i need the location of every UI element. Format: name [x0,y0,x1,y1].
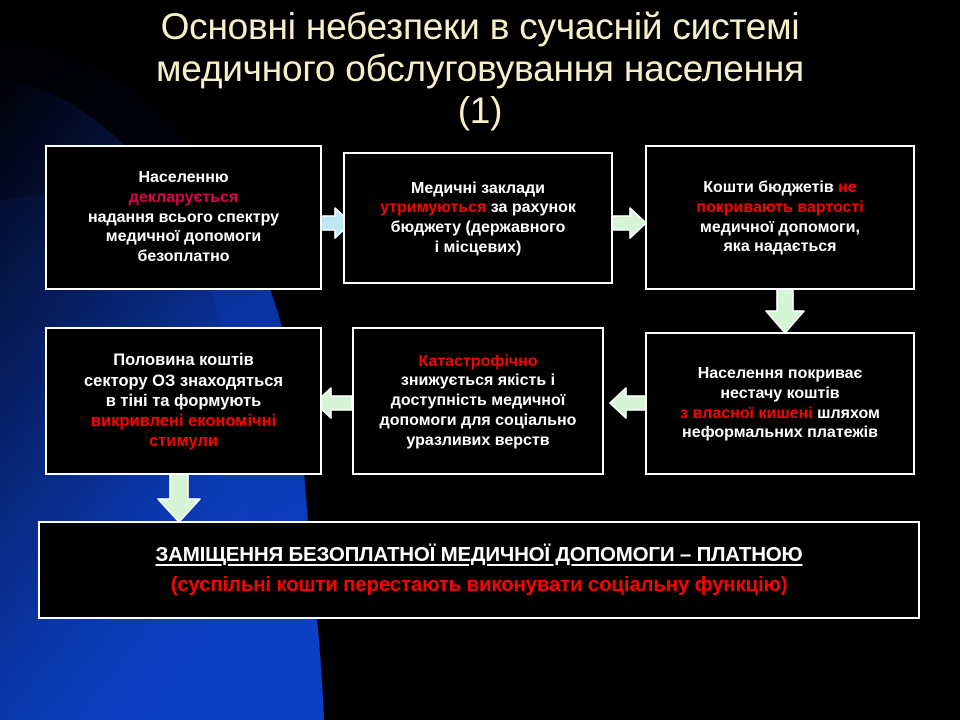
text-run: сектору ОЗ знаходяться [84,372,283,390]
flow-box-text: Медичні закладиутримуються за рахунокбюд… [376,179,580,258]
flow-box-out-of-pocket-payments: Населення покриваєнестачу коштівз власно… [645,332,915,475]
text-run: Медичні заклади [411,180,545,197]
flow-box-text: Половина коштівсектору ОЗ знаходятьсяв т… [80,350,287,451]
text-run: шляхом [813,405,880,422]
text-run: неформальних платежів [682,424,878,441]
text-run: медичної допомоги [106,228,261,245]
arrow-box4-to-banner [155,472,203,524]
text-run: з власної кишені [680,405,813,422]
arrow-box2-to-box3 [608,206,648,240]
text-run: Населення покриває [698,365,863,382]
text-run: уразливих верств [406,432,549,449]
text-run: за рахунок [486,199,576,216]
flow-box-budget-not-covering: Кошти бюджетів непокривають вартостімеди… [645,145,915,290]
flow-box-shadow-economy-incentives: Половина коштівсектору ОЗ знаходятьсяв т… [45,327,322,475]
text-run: і місцевих) [435,239,522,256]
text-run: стимули [149,432,218,450]
arrow-box3-to-box6 [763,285,807,335]
text-run: Кошти бюджетів [703,179,838,196]
text-run: яка надається [723,238,836,255]
conclusion-banner-subline: (суспільні кошти перестають виконувати с… [171,573,788,597]
flow-box-quality-access-decline: Катастрофічнознижується якість ідоступні… [352,327,604,475]
flow-box-text: Населення покриваєнестачу коштівз власно… [676,364,884,443]
text-run: викривлені економічні [91,412,276,430]
arrow-box6-to-box5 [608,386,648,420]
text-run: Населенню [138,169,228,186]
text-run: безоплатно [137,248,229,265]
text-run: нестачу коштів [720,385,839,402]
text-run: допомоги для соціально [380,412,577,429]
text-run: Катастрофічно [418,353,537,370]
text-run: декларується [129,189,239,206]
flow-box-text: Населеннюдекларуєтьсянадання всього спек… [84,168,283,266]
slide-canvas: Основні небезпеки в сучасній системі мед… [0,0,960,720]
text-run: доступність медичної [391,392,566,409]
conclusion-banner-headline: ЗАМІЩЕННЯ БЕЗОПЛАТНОЇ МЕДИЧНОЇ ДОПОМОГИ … [156,543,803,567]
text-run: утримуються [380,199,486,216]
flow-box-population-declaration: Населеннюдекларуєтьсянадання всього спек… [45,145,322,290]
text-run: Половина коштів [113,351,254,369]
slide-title: Основні небезпеки в сучасній системі мед… [0,6,960,132]
text-run: медичної допомоги, [700,219,860,236]
text-run: в тіні та формують [106,392,262,410]
text-run: покривають вартості [696,199,863,216]
text-run: знижується якість і [401,372,555,389]
text-run: бюджету (державного [391,219,566,236]
flow-box-text: Катастрофічнознижується якість ідоступні… [376,352,581,450]
conclusion-banner: ЗАМІЩЕННЯ БЕЗОПЛАТНОЇ МЕДИЧНОЇ ДОПОМОГИ … [38,521,920,619]
flow-box-medical-facilities-funding: Медичні закладиутримуються за рахунокбюд… [343,152,613,284]
flow-box-text: Кошти бюджетів непокривають вартостімеди… [692,178,867,257]
text-run: не [838,179,857,196]
text-run: надання всього спектру [88,209,279,226]
